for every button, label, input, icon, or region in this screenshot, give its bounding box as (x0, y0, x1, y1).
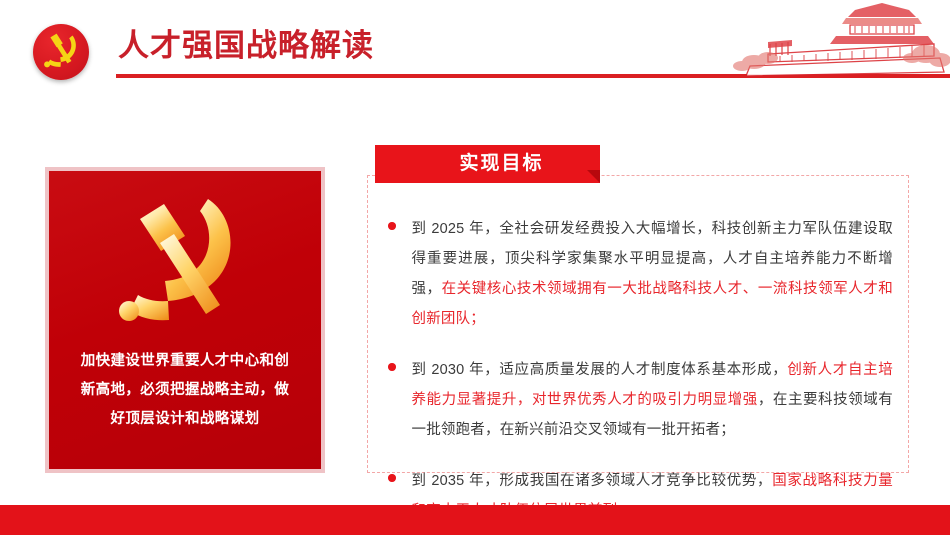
footer-bar (0, 505, 950, 535)
bullet-dot-icon (388, 474, 396, 482)
goals-banner-label: 实现目标 (431, 145, 543, 183)
party-emblem-hammer-sickle-icon (33, 24, 89, 80)
goals-banner: 实现目标 (375, 145, 600, 183)
bullet-dot-icon (388, 363, 396, 371)
quote-card: 加快建设世界重要人才中心和创 新高地，必须把握战略主动，做 好顶层设计和战略谋划 (45, 167, 325, 473)
bullet-dot-icon (388, 222, 396, 230)
quote-line-1: 加快建设世界重要人才中心和创 (65, 347, 305, 376)
list-item: 到 2025 年，全社会研发经费投入大幅增长，科技创新主力军队伍建设取得重要进展… (388, 214, 893, 334)
list-item-text: 到 2025 年，全社会研发经费投入大幅增长，科技创新主力军队伍建设取得重要进展… (412, 214, 894, 334)
page-title: 人才强国战略解读 (118, 26, 374, 66)
goals-banner-fold-corner (587, 170, 600, 183)
list-item-text: 到 2030 年，适应高质量发展的人才制度体系基本形成，创新人才自主培养能力显著… (412, 355, 894, 445)
quote-line-2: 新高地，必须把握战略主动，做 (65, 376, 305, 405)
list-item-text-plain: 到 2030 年，适应高质量发展的人才制度体系基本形成， (412, 362, 788, 378)
tiananmen-gate-icon (650, 0, 950, 84)
list-item-text-plain: 到 2035 年，形成我国在诸多领域人才竞争比较优势， (412, 473, 773, 489)
gold-hammer-sickle-icon (112, 191, 258, 331)
list-item: 到 2030 年，适应高质量发展的人才制度体系基本形成，创新人才自主培养能力显著… (388, 355, 893, 445)
quote-line-3: 好顶层设计和战略谋划 (65, 405, 305, 434)
list-item-text-highlight: 在关键核心技术领域拥有一大批战略科技人才、一流科技领军人才和创新团队； (412, 281, 894, 327)
quote-card-text: 加快建设世界重要人才中心和创 新高地，必须把握战略主动，做 好顶层设计和战略谋划 (65, 347, 305, 434)
goals-bullet-list: 到 2025 年，全社会研发经费投入大幅增长，科技创新主力军队伍建设取得重要进展… (388, 214, 893, 535)
quote-card-inner: 加快建设世界重要人才中心和创 新高地，必须把握战略主动，做 好顶层设计和战略谋划 (49, 171, 321, 469)
slide-canvas: 人才强国战略解读 (0, 0, 950, 535)
slide-header: 人才强国战略解读 (0, 0, 950, 100)
